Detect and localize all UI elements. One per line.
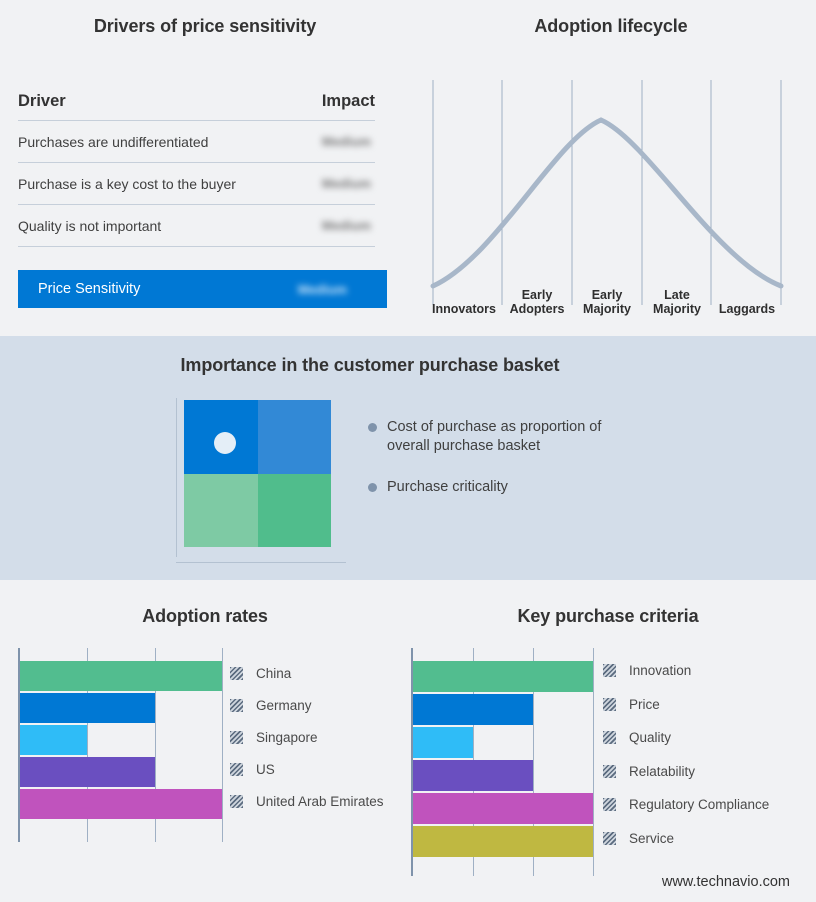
lifecycle-stage-laggards: Laggards <box>713 302 781 316</box>
adoption-rates-plot-area <box>18 648 222 833</box>
legend-label: United Arab Emirates <box>256 794 384 809</box>
legend-label: Quality <box>629 730 671 745</box>
purchase-basket-matrix <box>176 398 346 563</box>
lifecycle-stage-labels: Innovators Early Adopters Early Majority… <box>425 276 795 316</box>
legend-item: Quality <box>603 730 671 745</box>
chart-bar <box>20 661 222 691</box>
chart-bar <box>413 694 533 725</box>
legend-swatch-hatch-icon <box>603 798 616 811</box>
legend-label: Relatability <box>629 764 695 779</box>
chart-bar <box>20 789 222 819</box>
drivers-table: Driver Impact Purchases are undifferenti… <box>18 92 375 247</box>
stage-line-2: Adopters <box>503 302 571 316</box>
drivers-panel-title: Drivers of price sensitivity <box>0 16 410 37</box>
legend-swatch-hatch-icon <box>603 698 616 711</box>
adoption-lifecycle-chart: Innovators Early Adopters Early Majority… <box>425 80 795 305</box>
stage-line-2: Majority <box>643 302 711 316</box>
stage-line-1: Early <box>503 288 571 302</box>
chart-bar <box>413 793 593 824</box>
chart-gridline <box>593 648 594 876</box>
price-sensitivity-label: Price Sensitivity <box>38 281 140 297</box>
matrix-y-axis <box>176 398 177 557</box>
table-row: Purchases are undifferentiated Medium <box>18 121 375 163</box>
legend-item: Relatability <box>603 764 695 779</box>
impact-value-redacted: Medium <box>322 176 375 191</box>
legend-swatch-hatch-icon <box>230 699 243 712</box>
key-purchase-criteria-title: Key purchase criteria <box>400 606 816 627</box>
bullet-icon <box>368 423 377 432</box>
chart-bar <box>413 760 533 791</box>
lifecycle-stage-late-majority: Late Majority <box>643 288 711 316</box>
driver-label: Purchase is a key cost to the buyer <box>18 176 236 192</box>
legend-swatch-hatch-icon <box>603 765 616 778</box>
chart-bar <box>20 693 155 723</box>
legend-item: Service <box>603 831 674 846</box>
legend-item: Price <box>603 697 660 712</box>
stage-line-2: Laggards <box>713 302 781 316</box>
lifecycle-divider-lines <box>433 80 781 305</box>
bell-curve-path <box>433 120 781 286</box>
legend-item: China <box>230 666 291 681</box>
key-purchase-criteria-plot-area <box>411 648 593 870</box>
legend-item: Germany <box>230 698 312 713</box>
chart-bar <box>413 826 593 857</box>
matrix-quadrants <box>184 400 331 547</box>
legend-label: Price <box>629 697 660 712</box>
chart-bar <box>20 725 87 755</box>
column-header-impact: Impact <box>322 92 375 111</box>
legend-item: United Arab Emirates <box>230 794 384 809</box>
impact-value-redacted: Medium <box>322 134 375 149</box>
legend-label: Regulatory Compliance <box>629 797 769 812</box>
stage-line-2: Innovators <box>429 302 499 316</box>
matrix-position-marker <box>214 432 236 454</box>
basket-legend: Cost of purchase as proportion of overal… <box>368 418 668 519</box>
price-sensitivity-impact-redacted: Medium <box>298 282 373 297</box>
chart-bar <box>413 661 593 692</box>
table-row: Purchase is a key cost to the buyer Medi… <box>18 163 375 205</box>
matrix-quadrant-bottom-left <box>184 474 258 548</box>
legend-swatch-hatch-icon <box>603 731 616 744</box>
drivers-table-header: Driver Impact <box>18 92 375 121</box>
legend-label: Innovation <box>629 663 691 678</box>
legend-swatch-hatch-icon <box>603 832 616 845</box>
chart-gridline <box>222 648 223 842</box>
lifecycle-stage-early-majority: Early Majority <box>573 288 641 316</box>
legend-label: Germany <box>256 698 312 713</box>
basket-legend-label: Cost of purchase as proportion of overal… <box>387 418 642 456</box>
stage-line-1: Late <box>643 288 711 302</box>
legend-swatch-hatch-icon <box>230 763 243 776</box>
legend-item: Singapore <box>230 730 318 745</box>
list-item: Purchase criticality <box>368 478 668 497</box>
legend-item: Innovation <box>603 663 691 678</box>
legend-label: Service <box>629 831 674 846</box>
list-item: Cost of purchase as proportion of overal… <box>368 418 668 456</box>
lifecycle-panel-title: Adoption lifecycle <box>406 16 816 37</box>
legend-label: US <box>256 762 275 777</box>
impact-value-redacted: Medium <box>322 218 375 233</box>
legend-item: Regulatory Compliance <box>603 797 769 812</box>
basket-panel-title: Importance in the customer purchase bask… <box>0 355 740 376</box>
legend-swatch-hatch-icon <box>230 795 243 808</box>
matrix-quadrant-bottom-right <box>258 474 332 548</box>
lifecycle-stage-early-adopters: Early Adopters <box>503 288 571 316</box>
matrix-x-axis <box>176 562 346 563</box>
lifecycle-bell-curve-svg <box>425 80 795 305</box>
key-purchase-criteria-legend: InnovationPriceQualityRelatabilityRegula… <box>603 648 801 870</box>
legend-swatch-hatch-icon <box>230 731 243 744</box>
adoption-rates-title: Adoption rates <box>0 606 410 627</box>
driver-label: Quality is not important <box>18 218 161 234</box>
legend-swatch-hatch-icon <box>603 664 616 677</box>
adoption-rates-legend: ChinaGermanySingaporeUSUnited Arab Emira… <box>230 648 398 833</box>
footer-url: www.technavio.com <box>662 874 790 890</box>
chart-bar <box>413 727 473 758</box>
legend-swatch-hatch-icon <box>230 667 243 680</box>
bullet-icon <box>368 483 377 492</box>
chart-bar <box>20 757 155 787</box>
stage-line-2: Majority <box>573 302 641 316</box>
lifecycle-stage-innovators: Innovators <box>429 302 499 316</box>
stage-line-1: Early <box>573 288 641 302</box>
price-sensitivity-summary-row: Price Sensitivity Medium <box>18 270 387 308</box>
key-purchase-criteria-chart: InnovationPriceQualityRelatabilityRegula… <box>411 648 801 870</box>
legend-label: China <box>256 666 291 681</box>
legend-label: Singapore <box>256 730 318 745</box>
basket-legend-label: Purchase criticality <box>387 478 508 497</box>
driver-label: Purchases are undifferentiated <box>18 134 208 150</box>
matrix-quadrant-top-right <box>258 400 332 474</box>
legend-item: US <box>230 762 275 777</box>
table-row: Quality is not important Medium <box>18 205 375 247</box>
adoption-rates-chart: ChinaGermanySingaporeUSUnited Arab Emira… <box>18 648 398 833</box>
column-header-driver: Driver <box>18 92 66 111</box>
